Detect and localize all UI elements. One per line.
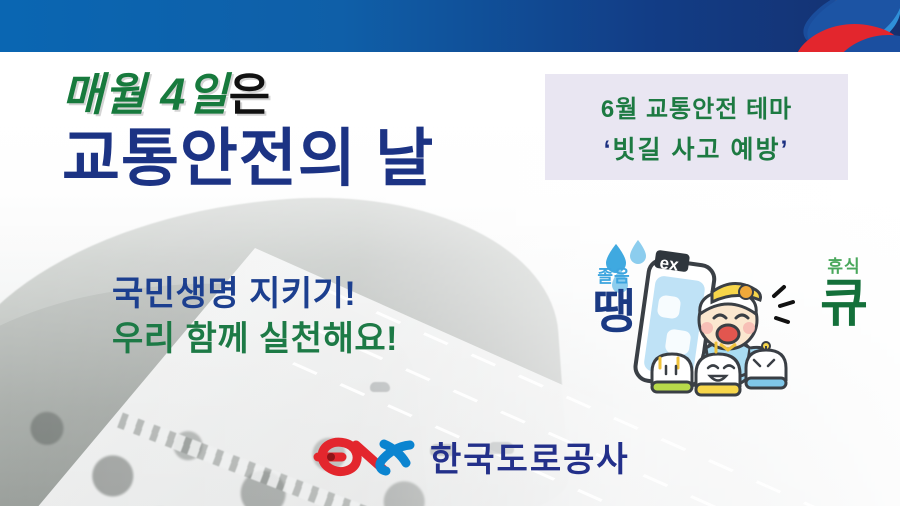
mascot-illustration: ex [560,222,900,404]
headline-black-particle: 은 [229,69,271,120]
monthly-theme-box: 6월 교통안전 테마 ‘빗길 사고 예방’ [545,74,848,180]
car-mascot-green-icon [652,354,692,392]
corporate-name: 한국도로공사 [430,432,630,481]
mascot-right-caption: 휴식 큐 [792,258,896,330]
mascot-right-small-text: 휴식 [827,257,860,276]
slogan-line-1: 국민생명 지키기! [112,272,398,317]
theme-subject-text: 빗길 사고 예방 [613,136,781,164]
theme-close-quote: ’ [780,136,789,164]
top-blue-bar [0,0,900,52]
ex-logo-icon [312,436,416,478]
corner-swoosh-icon [750,0,900,52]
headline-green-text: 매월 4일 [62,69,229,120]
headline-line-2: 교통안전의 날 [62,126,434,192]
theme-heading: 6월 교통안전 테마 [601,89,792,124]
slogan-line-2: 우리 함께 실천해요! [112,317,398,362]
theme-open-quote: ‘ [604,136,613,164]
mascot-right-big-text: 큐 [792,278,896,330]
slogan-block: 국민생명 지키기! 우리 함께 실천해요! [112,272,398,362]
mascot-left-big-text: 땡 [566,288,662,335]
mascot-left-caption: 졸음 땡 [566,268,662,335]
corporate-logo: 한국도로공사 [312,432,630,481]
traffic-safety-day-poster: 매월 4일은 교통안전의 날 국민생명 지키기! 우리 함께 실천해요! 6월 … [0,0,900,506]
mascot-left-small-text: 졸음 [597,267,630,286]
headline-line-1: 매월 4일은 [62,72,434,117]
headline-block: 매월 4일은 교통안전의 날 [62,72,434,192]
theme-subject: ‘빗길 사고 예방’ [604,130,790,166]
